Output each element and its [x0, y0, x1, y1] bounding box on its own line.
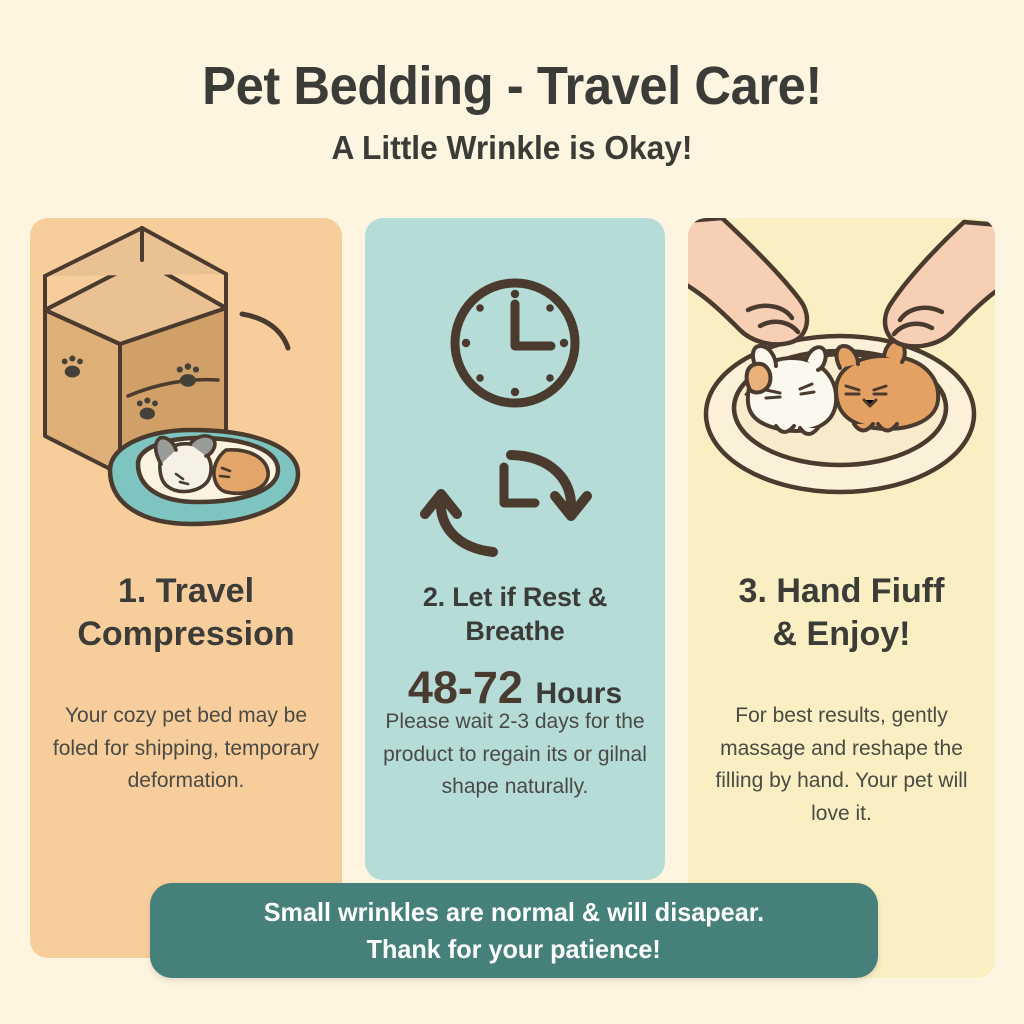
clock-and-refresh-cycle-illustration — [365, 218, 665, 568]
cardboard-box-with-pet-bed-illustration — [30, 218, 342, 548]
step-heading-1-line-1: 1. Travel — [118, 572, 254, 610]
infographic-poster: Pet Bedding - Travel Care! A Little Wrin… — [0, 0, 1024, 1024]
step-card-travel-compression: 1. Travel Compression Your cozy pet bed … — [30, 218, 342, 958]
step-card-hand-fluff: 3. Hand Fiuff & Enjoy! For best results,… — [688, 218, 995, 978]
step-body-2: Please wait 2-3 days for the product to … — [379, 706, 651, 804]
footer-line-2: Thank for your patience! — [367, 931, 661, 968]
step-heading-3-line-2: & Enjoy! — [773, 615, 911, 653]
page-title: Pet Bedding - Travel Care! — [31, 58, 994, 115]
step-heading-group-1: 1. Travel Compression — [30, 570, 342, 655]
step-heading-3-line-1: 3. Hand Fiuff — [739, 572, 945, 610]
step-heading-1-line-2: Compression — [77, 615, 294, 653]
footer-line-1: Small wrinkles are normal & will disapea… — [264, 894, 764, 931]
step-heading-group-2: 2. Let if Rest & Breathe 48-72 Hours — [365, 581, 665, 712]
step-body-group-1: Your cozy pet bed may be foled for shipp… — [30, 700, 342, 798]
hands-fluffing-bed-with-cats-illustration — [688, 218, 995, 548]
poster-header: Pet Bedding - Travel Care! A Little Wrin… — [0, 58, 1024, 165]
duration-value: 48-72 — [408, 662, 523, 713]
step-heading-1: 1. Travel Compression — [44, 570, 328, 655]
step-card-let-it-rest: 2. Let if Rest & Breathe 48-72 Hours Ple… — [365, 218, 665, 880]
step-heading-2: 2. Let if Rest & Breathe — [379, 581, 651, 649]
step-body-3: For best results, gently massage and res… — [702, 700, 981, 830]
page-subtitle: A Little Wrinkle is Okay! — [20, 131, 1003, 166]
step-body-group-3: For best results, gently massage and res… — [688, 700, 995, 830]
step-highlight-duration: 48-72 Hours — [379, 663, 651, 713]
step-body-group-2: Please wait 2-3 days for the product to … — [365, 706, 665, 804]
footer-notice-banner: Small wrinkles are normal & will disapea… — [150, 883, 878, 978]
step-heading-3: 3. Hand Fiuff & Enjoy! — [702, 570, 981, 655]
duration-unit: Hours — [535, 677, 622, 710]
step-heading-group-3: 3. Hand Fiuff & Enjoy! — [688, 570, 995, 655]
step-body-1: Your cozy pet bed may be foled for shipp… — [44, 700, 328, 798]
